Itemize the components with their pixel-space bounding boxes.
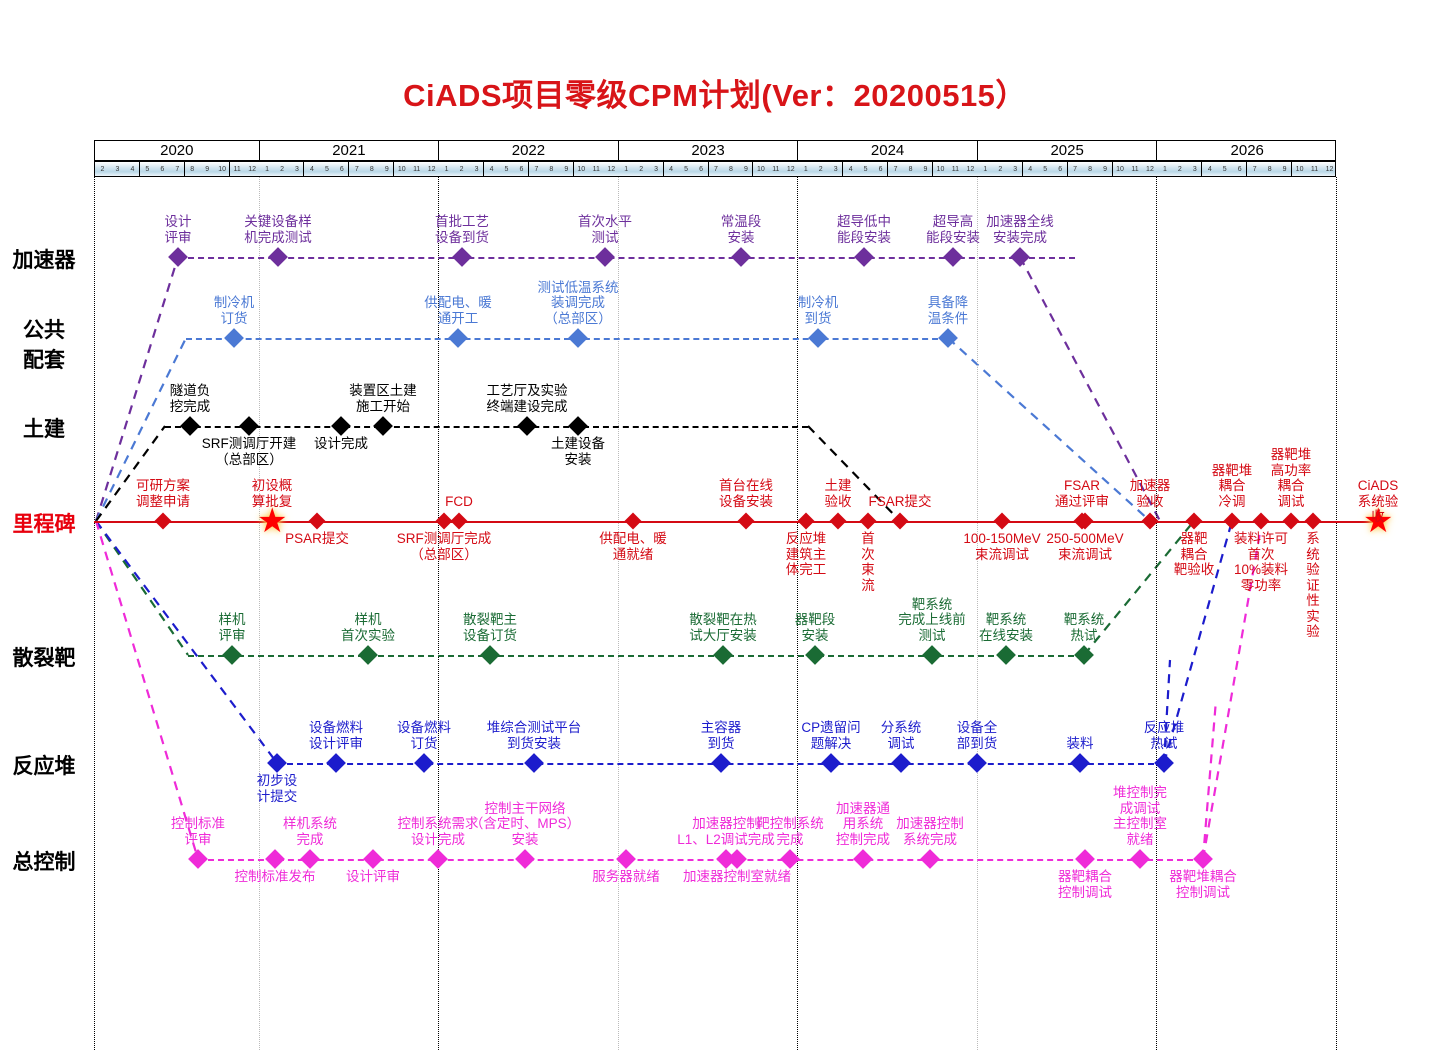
milestone-label: 土建设备 安装 <box>551 436 605 467</box>
milestone-label: 供配电、暖 通就绪 <box>599 531 667 562</box>
milestone-label: 控制主干网络 （含定时、MPS） 安装 <box>470 801 580 848</box>
milestone-label: 100-150MeV 束流调试 <box>963 531 1040 562</box>
milestone-label: FSAR 通过评审 <box>1055 478 1109 509</box>
milestone-diamond-spallation_target-6[interactable] <box>996 645 1016 665</box>
milestone-diamond-accelerator-2[interactable] <box>452 247 472 267</box>
quarter-separator <box>663 162 664 176</box>
month-tick-2022-2: 2 <box>454 162 469 176</box>
month-tick-2023-1: 1 <box>619 162 634 176</box>
plot-left-edge <box>94 177 95 1050</box>
milestone-label: 加速器通 用系统 控制完成 <box>836 801 890 848</box>
month-tick-2023-2: 2 <box>634 162 649 176</box>
month-tick-2025-1: 1 <box>978 162 993 176</box>
milestone-label: 加速器控制 系统完成 <box>896 816 964 847</box>
milestone-label: CiADS 系统验收 <box>1358 478 1399 525</box>
month-tick-2025-10: 10 <box>1113 162 1128 176</box>
month-tick-2021-8: 8 <box>364 162 379 176</box>
track-line-spallation_target <box>188 655 1084 657</box>
milestone-label: 散裂靶主 设备订货 <box>463 612 517 643</box>
month-tick-2021-12: 12 <box>424 162 439 176</box>
month-tick-2023-6: 6 <box>694 162 709 176</box>
milestone-label: 装料 <box>1067 736 1094 752</box>
milestone-diamond-spallation_target-3[interactable] <box>713 645 733 665</box>
month-tick-2021-6: 6 <box>334 162 349 176</box>
month-tick-2024-1: 1 <box>798 162 813 176</box>
milestone-label: 器靶 耦合 靶验收 <box>1174 531 1215 578</box>
month-tick-2025-8: 8 <box>1083 162 1098 176</box>
quarter-separator <box>1067 162 1068 176</box>
quarter-separator <box>752 162 753 176</box>
month-tick-2024-2: 2 <box>813 162 828 176</box>
month-tick-2024-12: 12 <box>963 162 978 176</box>
month-tick-2026-4: 4 <box>1202 162 1217 176</box>
milestone-diamond-reactor-8[interactable] <box>1070 753 1090 773</box>
month-tick-2024-3: 3 <box>828 162 843 176</box>
milestone-label: 测试低温系统 装调完成 （总部区） <box>538 280 619 327</box>
month-tick-2021-9: 9 <box>379 162 394 176</box>
milestone-label: 关键设备样 机完成测试 <box>244 214 312 245</box>
year-gridline-2026 <box>1156 177 1157 1050</box>
month-tick-2024-4: 4 <box>843 162 858 176</box>
month-tick-2022-8: 8 <box>544 162 559 176</box>
month-tick-2026-6: 6 <box>1232 162 1247 176</box>
month-tick-2023-11: 11 <box>768 162 783 176</box>
milestone-label: 首次水平 测试 <box>578 214 632 245</box>
milestone-diamond-milestone-5[interactable] <box>625 513 642 530</box>
month-tick-2022-12: 12 <box>604 162 619 176</box>
milestone-diamond-master_control-13[interactable] <box>1130 849 1150 869</box>
milestone-label: 首 次 束 流 <box>861 531 875 593</box>
milestone-diamond-master_control-14[interactable] <box>1193 849 1213 869</box>
month-tick-2026-7: 7 <box>1247 162 1262 176</box>
row-label-civil_construction: 土建 <box>0 413 88 443</box>
month-tick-2021-3: 3 <box>290 162 305 176</box>
month-tick-2022-6: 6 <box>514 162 529 176</box>
month-tick-2023-12: 12 <box>783 162 798 176</box>
month-tick-2023-10: 10 <box>753 162 768 176</box>
milestone-label: 加速器全线 安装完成 <box>986 214 1054 245</box>
milestone-label: 控制系统需求 设计完成 <box>398 816 479 847</box>
milestone-label: 设备燃料 订货 <box>397 720 451 751</box>
quarter-separator <box>303 162 304 176</box>
milestone-diamond-reactor-2[interactable] <box>414 753 434 773</box>
milestone-diamond-master_control-5[interactable] <box>515 849 535 869</box>
year-label-2020: 2020 <box>95 141 260 160</box>
milestone-label: 设计 评审 <box>165 214 192 245</box>
milestone-diamond-accelerator-7[interactable] <box>1010 247 1030 267</box>
milestone-diamond-public_facilities-3[interactable] <box>808 328 828 348</box>
month-tick-2025-3: 3 <box>1008 162 1023 176</box>
month-tick-2025-4: 4 <box>1023 162 1038 176</box>
milestone-label: 主容器 到货 <box>701 720 742 751</box>
milestone-label: 样机系统 完成 <box>283 816 337 847</box>
milestone-diamond-master_control-3[interactable] <box>363 849 383 869</box>
gantt-chart-page: CiADS项目零级CPM计划(Ver：20200515） 20202021202… <box>0 0 1430 1010</box>
milestone-label: PSAR提交 <box>285 531 349 547</box>
month-tick-2021-11: 11 <box>409 162 424 176</box>
milestone-diamond-spallation_target-7[interactable] <box>1074 645 1094 665</box>
quarter-separator <box>842 162 843 176</box>
month-tick-2026-2: 2 <box>1172 162 1187 176</box>
month-tick-2020-7: 7 <box>170 162 185 176</box>
quarter-separator <box>1201 162 1202 176</box>
milestone-label: 工艺厅及实验 终端建设完成 <box>487 383 568 414</box>
month-tick-2022-3: 3 <box>469 162 484 176</box>
month-tick-2026-11: 11 <box>1307 162 1322 176</box>
month-tick-2020-8: 8 <box>185 162 200 176</box>
month-tick-2026-10: 10 <box>1292 162 1307 176</box>
milestone-diamond-milestone-3[interactable] <box>451 513 468 530</box>
month-tick-2021-4: 4 <box>304 162 319 176</box>
year-gridline-2025 <box>977 177 978 1050</box>
row-label-spallation_target: 散裂靶 <box>0 642 88 672</box>
milestone-label: SRF测调厅完成 （总部区） <box>397 531 492 562</box>
month-tick-2022-9: 9 <box>559 162 574 176</box>
month-tick-2026-9: 9 <box>1277 162 1292 176</box>
milestone-diamond-milestone-9[interactable] <box>860 513 877 530</box>
month-tick-2026-3: 3 <box>1187 162 1202 176</box>
milestone-diamond-civil_construction-5[interactable] <box>568 416 588 436</box>
month-tick-2023-8: 8 <box>723 162 738 176</box>
milestone-diamond-milestone-15[interactable] <box>1186 513 1203 530</box>
milestone-label: 超导低中 能段安装 <box>837 214 891 245</box>
milestone-diamond-master_control-1[interactable] <box>265 849 285 869</box>
page-title: CiADS项目零级CPM计划(Ver：20200515） <box>0 70 1430 115</box>
milestone-star-icon[interactable]: ★ <box>257 506 287 536</box>
milestone-diamond-milestone-16[interactable] <box>1224 513 1241 530</box>
milestone-diamond-master_control-0[interactable] <box>188 849 208 869</box>
month-tick-2024-5: 5 <box>858 162 873 176</box>
milestone-label: 器靶堆 耦合 冷调 <box>1212 463 1253 510</box>
track-line-public_facilities <box>186 338 948 340</box>
milestone-diamond-reactor-0[interactable] <box>267 753 287 773</box>
month-tick-2020-2: 2 <box>95 162 110 176</box>
milestone-label: 具备降 温条件 <box>928 295 969 326</box>
month-tick-2022-11: 11 <box>589 162 604 176</box>
month-tick-2020-6: 6 <box>155 162 170 176</box>
year-label-2026: 2026 <box>1157 141 1337 160</box>
milestone-label: 设备燃料 设计评审 <box>309 720 363 751</box>
milestone-label: 初步设 计提交 <box>257 773 298 804</box>
milestone-diamond-master_control-6[interactable] <box>616 849 636 869</box>
milestone-label: 装置区土建 施工开始 <box>349 383 417 414</box>
milestone-label: 设计完成 <box>314 436 368 452</box>
quarter-separator <box>229 162 230 176</box>
milestone-diamond-public_facilities-1[interactable] <box>448 328 468 348</box>
milestone-label: 靶控制系统 完成 <box>756 816 824 847</box>
month-tick-2020-9: 9 <box>200 162 215 176</box>
month-tick-2023-5: 5 <box>679 162 694 176</box>
month-tick-2021-2: 2 <box>275 162 290 176</box>
milestone-diamond-accelerator-1[interactable] <box>268 247 288 267</box>
milestone-label: 设备全 部到货 <box>957 720 998 751</box>
milestone-diamond-milestone-17[interactable] <box>1253 513 1270 530</box>
timeline-plot: 2020202120222023202420252026 23456789101… <box>94 140 1336 910</box>
milestone-label: 控制标准 评审 <box>171 816 225 847</box>
milestone-diamond-civil_construction-4[interactable] <box>517 416 537 436</box>
milestone-diamond-milestone-19[interactable] <box>1305 513 1322 530</box>
quarter-separator <box>708 162 709 176</box>
year-label-2022: 2022 <box>439 141 619 160</box>
month-tick-2023-9: 9 <box>738 162 753 176</box>
milestone-diamond-milestone-2[interactable] <box>309 513 326 530</box>
milestone-diamond-civil_construction-3[interactable] <box>373 416 393 436</box>
row-label-accelerator: 加速器 <box>0 244 88 274</box>
milestone-label: 超导高 能段安装 <box>926 214 980 245</box>
month-tick-2021-10: 10 <box>394 162 409 176</box>
quarter-separator <box>184 162 185 176</box>
month-tick-2022-5: 5 <box>499 162 514 176</box>
milestone-label: 加速器控制室就绪 <box>683 869 791 885</box>
month-tick-2020-11: 11 <box>230 162 245 176</box>
year-gridline-2021 <box>259 177 260 1050</box>
month-tick-2022-1: 1 <box>439 162 454 176</box>
milestone-label: 装料许可 首次 10%装料 零功率 <box>1234 531 1288 593</box>
milestone-label: 器靶堆 高功率 耦合 调试 <box>1271 447 1312 509</box>
month-tick-2024-6: 6 <box>873 162 888 176</box>
milestone-label: 堆综合测试平台 到货安装 <box>487 720 582 751</box>
milestone-label: 加速器 验收 <box>1130 478 1171 509</box>
milestone-diamond-spallation_target-2[interactable] <box>480 645 500 665</box>
month-tick-2026-1: 1 <box>1157 162 1172 176</box>
quarter-separator <box>1291 162 1292 176</box>
milestone-label: CP遗留问 题解决 <box>801 720 860 751</box>
month-tick-2024-7: 7 <box>888 162 903 176</box>
month-tick-2020-10: 10 <box>215 162 230 176</box>
month-tick-2026-5: 5 <box>1217 162 1232 176</box>
quarter-separator <box>887 162 888 176</box>
track-line-civil_construction <box>165 426 808 428</box>
milestone-diamond-accelerator-6[interactable] <box>943 247 963 267</box>
milestone-diamond-milestone-7[interactable] <box>798 513 815 530</box>
milestone-label: 样机 首次实验 <box>341 612 395 643</box>
row-label-milestone: 里程碑 <box>0 508 88 538</box>
milestone-diamond-reactor-5[interactable] <box>821 753 841 773</box>
milestone-diamond-milestone-0[interactable] <box>155 513 172 530</box>
milestone-label: 分系统 调试 <box>881 720 922 751</box>
month-tick-2026-12: 12 <box>1322 162 1337 176</box>
month-tick-2024-10: 10 <box>933 162 948 176</box>
quarter-separator <box>393 162 394 176</box>
milestone-label: 服务器就绪 <box>592 869 660 885</box>
milestone-label: 初设概 算批复 <box>252 478 293 509</box>
milestone-label: 靶系统 热试 <box>1064 612 1105 643</box>
milestone-diamond-public_facilities-0[interactable] <box>224 328 244 348</box>
month-tick-2023-4: 4 <box>664 162 679 176</box>
month-tick-2020-4: 4 <box>125 162 140 176</box>
month-tick-2021-7: 7 <box>349 162 364 176</box>
milestone-label: FSAR提交 <box>868 494 931 510</box>
plot-right-edge <box>1336 177 1337 1050</box>
milestone-diamond-public_facilities-4[interactable] <box>938 328 958 348</box>
track-line-master_control <box>198 859 1203 861</box>
milestone-label: 反应堆 热试 <box>1144 720 1185 751</box>
month-tick-2025-5: 5 <box>1038 162 1053 176</box>
milestone-label: FCD <box>445 494 473 510</box>
year-label-2023: 2023 <box>619 141 799 160</box>
quarter-separator <box>1246 162 1247 176</box>
quarter-separator <box>528 162 529 176</box>
milestone-label: 控制标准发布 <box>235 869 316 885</box>
year-label-2021: 2021 <box>260 141 440 160</box>
track-line-accelerator <box>178 257 1075 259</box>
milestone-label: 系统 验证性 实验 <box>1302 531 1325 640</box>
milestone-diamond-spallation_target-5[interactable] <box>922 645 942 665</box>
month-tick-2020-5: 5 <box>140 162 155 176</box>
month-tick-2021-1: 1 <box>260 162 275 176</box>
milestone-label: 样机 评审 <box>219 612 246 643</box>
quarter-separator <box>932 162 933 176</box>
milestone-label: 靶系统 完成上线前 测试 <box>898 597 966 644</box>
milestone-label: 土建 验收 <box>825 478 852 509</box>
milestone-label: 器靶堆耦合 控制调试 <box>1169 869 1237 900</box>
quarter-separator <box>483 162 484 176</box>
month-tick-2024-8: 8 <box>903 162 918 176</box>
milestone-diamond-accelerator-5[interactable] <box>854 247 874 267</box>
milestone-diamond-accelerator-0[interactable] <box>168 247 188 267</box>
milestone-diamond-milestone-11[interactable] <box>994 513 1011 530</box>
milestone-diamond-reactor-4[interactable] <box>711 753 731 773</box>
milestone-diamond-reactor-6[interactable] <box>891 753 911 773</box>
quarter-separator <box>1022 162 1023 176</box>
milestone-label: 反应堆 建筑主 体完工 <box>786 531 827 578</box>
milestone-label: 首台在线 设备安装 <box>719 478 773 509</box>
year-header-row: 2020202120222023202420252026 <box>94 140 1336 161</box>
milestone-label: 器靶段 安装 <box>795 612 836 643</box>
month-tick-2020-3: 3 <box>110 162 125 176</box>
month-tick-2022-4: 4 <box>484 162 499 176</box>
milestone-diamond-civil_construction-1[interactable] <box>239 416 259 436</box>
milestone-diamond-milestone-8[interactable] <box>830 513 847 530</box>
quarter-separator <box>573 162 574 176</box>
milestone-label: 设计评审 <box>346 869 400 885</box>
month-tick-2024-9: 9 <box>918 162 933 176</box>
milestone-label: 器靶耦合 控制调试 <box>1058 869 1112 900</box>
milestone-label: 制冷机 订货 <box>214 295 255 326</box>
row-label-public_facilities: 公共 配套 <box>0 314 88 374</box>
milestone-label: 堆控制完 成调试 主控制室 就绪 <box>1113 785 1167 847</box>
month-tick-2024-11: 11 <box>948 162 963 176</box>
month-tick-2023-3: 3 <box>649 162 664 176</box>
month-tick-2025-9: 9 <box>1098 162 1113 176</box>
milestone-diamond-master_control-4[interactable] <box>428 849 448 869</box>
quarter-separator <box>139 162 140 176</box>
month-tick-2022-7: 7 <box>529 162 544 176</box>
milestone-diamond-public_facilities-2[interactable] <box>568 328 588 348</box>
month-tick-2020-12: 12 <box>245 162 260 176</box>
milestone-label: 散裂靶在热 试大厅安装 <box>689 612 757 643</box>
year-label-2025: 2025 <box>978 141 1158 160</box>
year-label-2024: 2024 <box>798 141 978 160</box>
row-label-reactor: 反应堆 <box>0 750 88 780</box>
month-tick-2021-5: 5 <box>319 162 334 176</box>
milestone-diamond-spallation_target-0[interactable] <box>222 645 242 665</box>
month-tick-2025-2: 2 <box>993 162 1008 176</box>
milestone-diamond-accelerator-3[interactable] <box>595 247 615 267</box>
milestone-diamond-reactor-7[interactable] <box>967 753 987 773</box>
milestone-diamond-master_control-12[interactable] <box>1075 849 1095 869</box>
milestone-diamond-accelerator-4[interactable] <box>731 247 751 267</box>
month-tick-2023-7: 7 <box>709 162 724 176</box>
milestone-diamond-master_control-10[interactable] <box>853 849 873 869</box>
month-tick-2025-11: 11 <box>1128 162 1143 176</box>
milestone-diamond-master_control-11[interactable] <box>920 849 940 869</box>
quarter-separator <box>348 162 349 176</box>
milestone-diamond-reactor-3[interactable] <box>524 753 544 773</box>
month-header-row: 2345678910111212345678910111212345678910… <box>94 161 1336 177</box>
milestone-diamond-civil_construction-2[interactable] <box>331 416 351 436</box>
milestone-label: 制冷机 到货 <box>798 295 839 326</box>
quarter-separator <box>1112 162 1113 176</box>
milestone-label: 隧道负 挖完成 <box>170 383 211 414</box>
milestone-diamond-master_control-2[interactable] <box>300 849 320 869</box>
milestone-label: 首批工艺 设备到货 <box>435 214 489 245</box>
milestone-label: SRF测调厅开建 （总部区） <box>202 436 297 467</box>
month-tick-2025-7: 7 <box>1068 162 1083 176</box>
row-label-master_control: 总控制 <box>0 846 88 876</box>
milestone-label: 可研方案 调整申请 <box>136 478 190 509</box>
milestone-diamond-master_control-8[interactable] <box>727 849 747 869</box>
month-tick-2025-12: 12 <box>1142 162 1157 176</box>
milestone-label: 250-500MeV 束流调试 <box>1046 531 1123 562</box>
month-tick-2022-10: 10 <box>574 162 589 176</box>
milestone-diamond-milestone-18[interactable] <box>1283 513 1300 530</box>
milestone-label: 常温段 安装 <box>721 214 762 245</box>
month-tick-2025-6: 6 <box>1053 162 1068 176</box>
milestone-label: 供配电、暖 通开工 <box>424 295 492 326</box>
milestone-diamond-milestone-6[interactable] <box>738 513 755 530</box>
milestone-diamond-spallation_target-1[interactable] <box>358 645 378 665</box>
milestone-diamond-milestone-10[interactable] <box>892 513 909 530</box>
milestone-diamond-civil_construction-0[interactable] <box>180 416 200 436</box>
milestone-label: 靶系统 在线安装 <box>979 612 1033 643</box>
month-tick-2026-8: 8 <box>1262 162 1277 176</box>
milestone-diamond-reactor-1[interactable] <box>326 753 346 773</box>
milestone-diamond-spallation_target-4[interactable] <box>805 645 825 665</box>
